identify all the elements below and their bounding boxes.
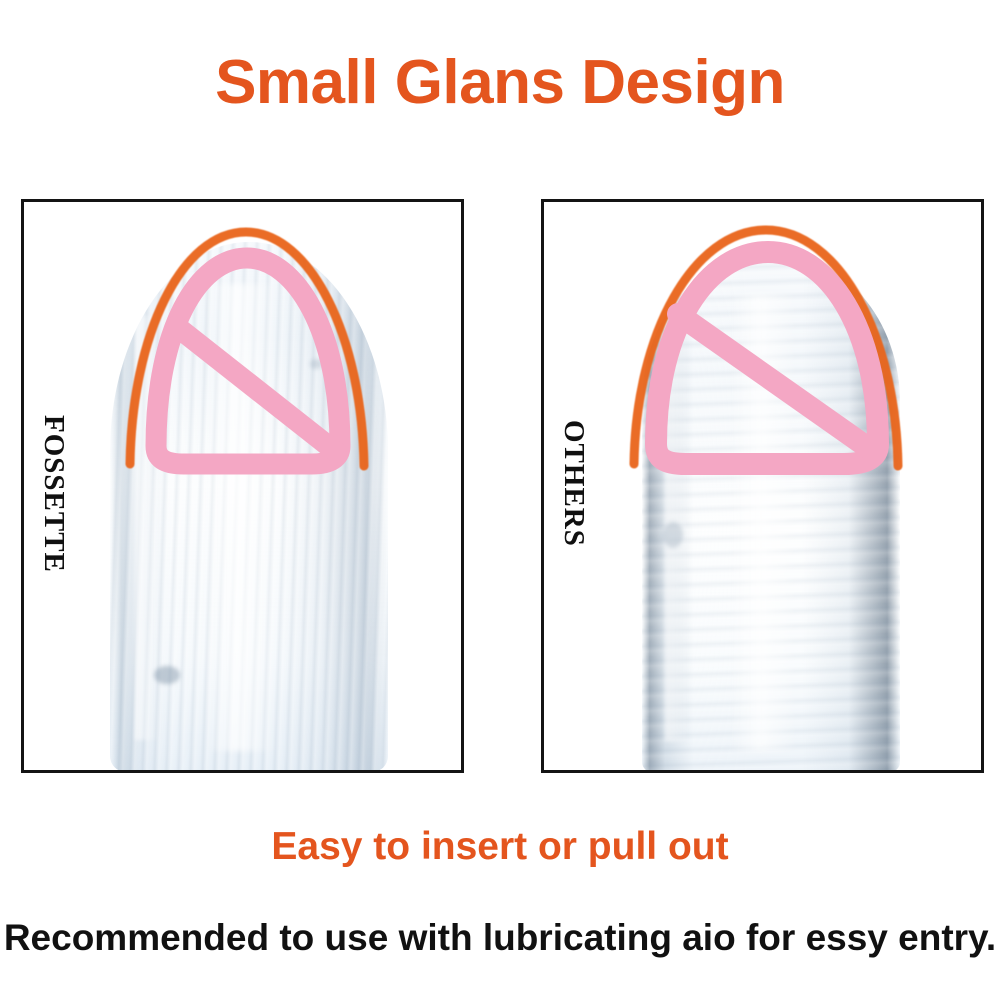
product-highlight-left <box>135 316 160 740</box>
product-texture-spot <box>154 666 180 684</box>
product-texture-spot <box>864 335 880 365</box>
comparison-panel-others: OTHERS <box>541 199 984 773</box>
product-highlight-left <box>665 325 688 741</box>
page-title: Small Glans Design <box>0 48 1000 118</box>
infographic-page: Small Glans Design FOSSETTE OTHERS <box>0 0 1000 1000</box>
product-texture-spot <box>663 522 683 548</box>
product-texture-spot <box>310 359 322 369</box>
product-image-others <box>642 252 900 772</box>
product-texture-ridges <box>110 242 388 772</box>
panel-side-label-others: OTHERS <box>557 420 590 547</box>
comparison-panel-fossette: FOSSETTE <box>21 199 464 773</box>
product-image-fossette <box>110 242 388 772</box>
product-highlight-center <box>730 294 797 752</box>
usage-note-caption: Recommended to use with lubricating aio … <box>0 916 1000 960</box>
product-texture-ridges <box>642 252 900 772</box>
benefit-caption: Easy to insert or pull out <box>0 824 1000 870</box>
product-highlight-center <box>205 284 277 750</box>
panel-side-label-fossette: FOSSETTE <box>37 415 70 573</box>
